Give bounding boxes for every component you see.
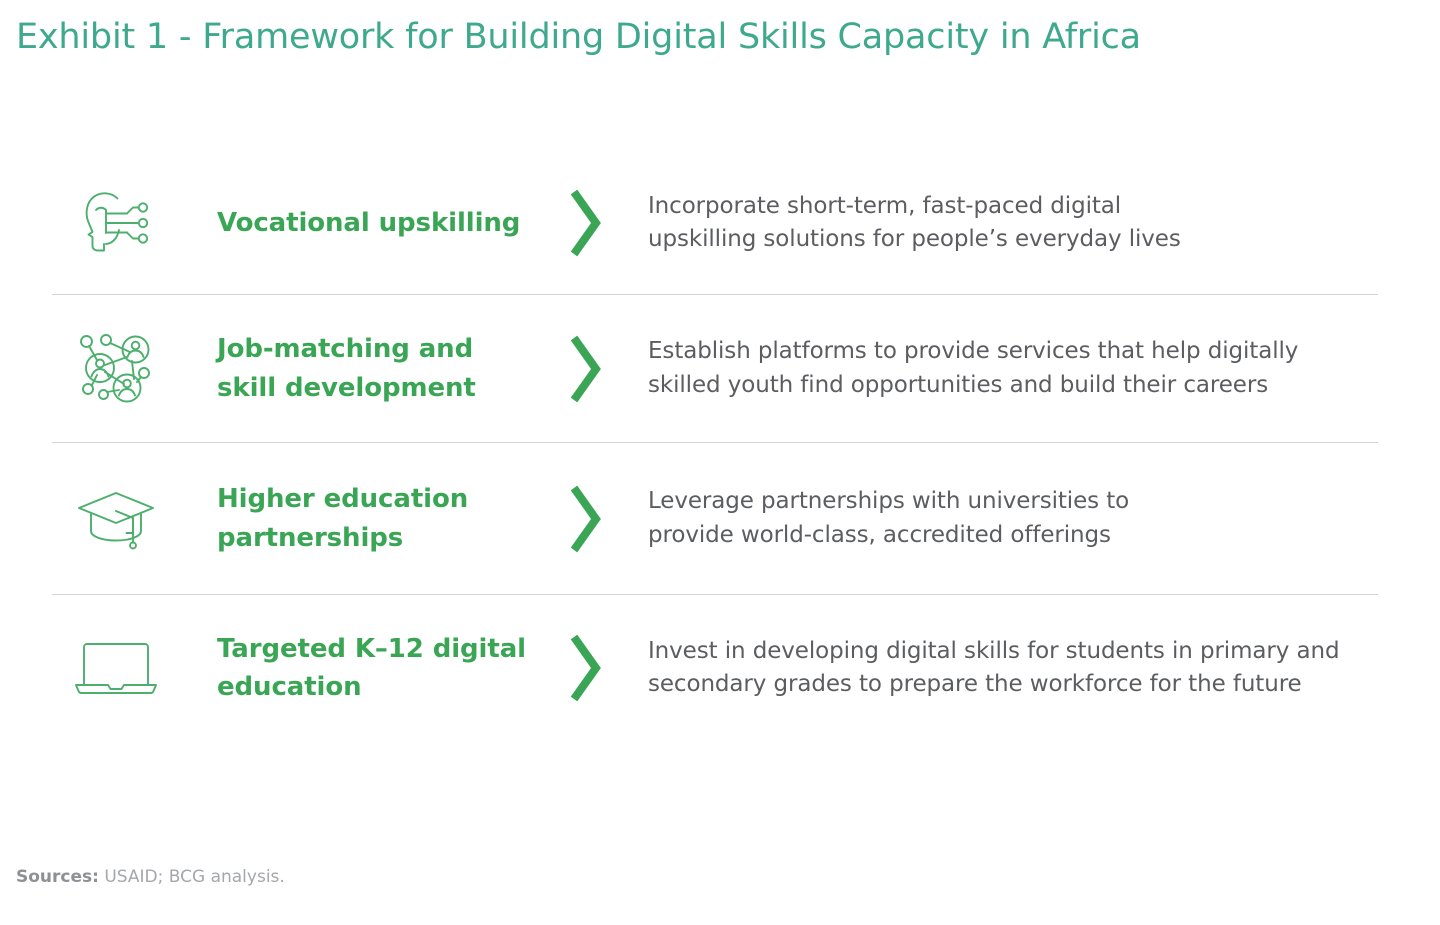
description-line-2: upskilling solutions for people’s everyd… <box>648 223 1378 256</box>
label-line-2: partnerships <box>217 523 403 553</box>
framework-row-label: Higher education partnerships <box>180 480 538 556</box>
sources-note: Sources: USAID; BCG analysis. <box>16 867 285 887</box>
sources-text: USAID; BCG analysis. <box>99 867 285 887</box>
label-line-1: Vocational upskilling <box>217 208 520 238</box>
head-circuit-icon <box>52 188 180 258</box>
framework-row-description: Establish platforms to provide services … <box>634 335 1378 402</box>
framework-row-job-matching: Job-matching and skill development Estab… <box>52 295 1378 443</box>
description-line-1: Leverage partnerships with universities … <box>648 485 1378 518</box>
chevron-right-icon <box>538 186 634 260</box>
framework-row-higher-education: Higher education partnerships Leverage p… <box>52 443 1378 595</box>
description-line-1: Establish platforms to provide services … <box>648 335 1378 368</box>
description-line-1: Invest in developing digital skills for … <box>648 635 1378 668</box>
description-line-2: skilled youth find opportunities and bui… <box>648 369 1378 402</box>
framework-row-vocational-upskilling: Vocational upskilling Incorporate short-… <box>52 152 1378 295</box>
framework-row-label: Vocational upskilling <box>180 204 538 242</box>
framework-list: Vocational upskilling Incorporate short-… <box>52 152 1378 741</box>
chevron-right-icon <box>538 332 634 406</box>
framework-row-description: Incorporate short-term, fast-paced digit… <box>634 190 1378 257</box>
label-line-2: skill development <box>217 373 476 403</box>
graduation-cap-icon <box>52 488 180 550</box>
label-line-1: Job-matching and <box>217 334 473 364</box>
people-network-icon <box>52 332 180 406</box>
framework-row-label: Targeted K–12 digital education <box>180 630 538 706</box>
chevron-right-icon <box>538 482 634 556</box>
laptop-icon <box>52 637 180 699</box>
framework-row-description: Invest in developing digital skills for … <box>634 635 1378 702</box>
framework-row-description: Leverage partnerships with universities … <box>634 485 1378 552</box>
label-line-1: Higher education <box>217 484 468 514</box>
framework-row-k12-digital-education: Targeted K–12 digital education Invest i… <box>52 595 1378 741</box>
chevron-right-icon <box>538 631 634 705</box>
page-title: Exhibit 1 - Framework for Building Digit… <box>16 17 1141 57</box>
framework-row-label: Job-matching and skill development <box>180 330 538 406</box>
label-line-1: Targeted K–12 <box>217 634 424 664</box>
description-line-2: provide world-class, accredited offering… <box>648 519 1378 552</box>
description-line-2: secondary grades to prepare the workforc… <box>648 668 1378 701</box>
sources-label: Sources: <box>16 867 99 887</box>
description-line-1: Incorporate short-term, fast-paced digit… <box>648 190 1378 223</box>
